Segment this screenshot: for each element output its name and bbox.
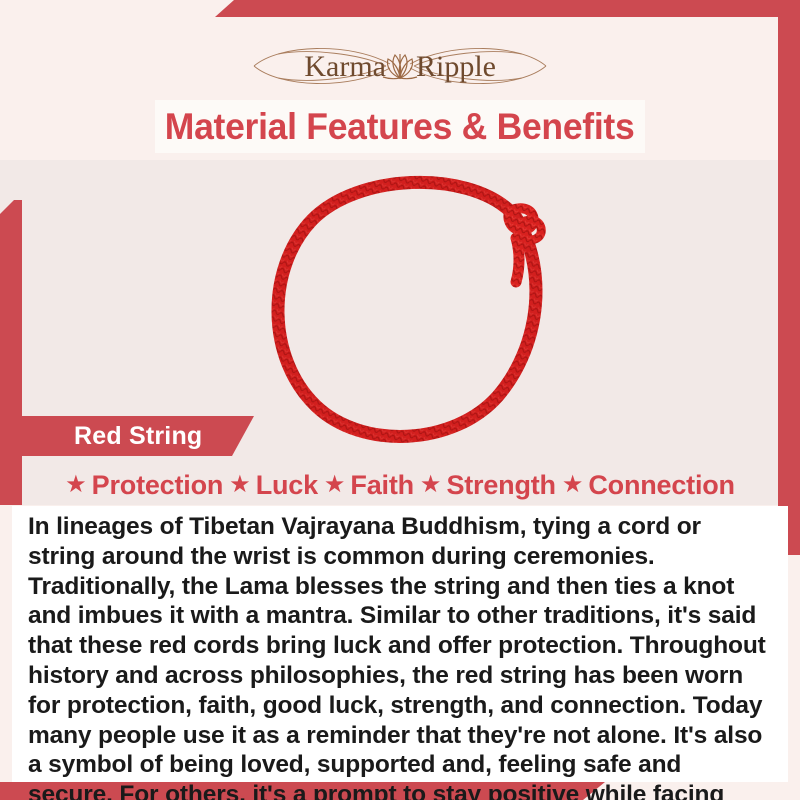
decorative-left-bar	[0, 200, 22, 505]
feature-item-connection: ★ Connection	[562, 470, 735, 501]
brand-logo-graphic: Karma Ripple	[240, 38, 560, 94]
feature-item-protection: ★ Protection	[65, 470, 223, 501]
feature-label: Luck	[256, 470, 318, 501]
star-icon: ★	[65, 473, 87, 497]
star-icon: ★	[229, 473, 251, 497]
product-name-banner: Red String	[22, 416, 254, 456]
brand-word-right: Ripple	[416, 50, 496, 83]
feature-label: Protection	[92, 470, 224, 501]
feature-label: Strength	[446, 470, 555, 501]
feature-item-faith: ★ Faith	[324, 470, 414, 501]
infographic-page: Karma Ripple Material Features & Benefit…	[0, 0, 800, 800]
feature-item-luck: ★ Luck	[229, 470, 318, 501]
star-icon: ★	[324, 473, 346, 497]
feature-label: Connection	[588, 470, 735, 501]
star-icon: ★	[420, 473, 442, 497]
description-panel: In lineages of Tibetan Vajrayana Buddhis…	[12, 506, 788, 782]
features-list: ★ Protection ★ Luck ★ Faith ★ Strength ★…	[0, 466, 800, 504]
decorative-top-bar	[215, 0, 800, 17]
page-title: Material Features & Benefits	[165, 106, 635, 148]
feature-item-strength: ★ Strength	[420, 470, 556, 501]
star-icon: ★	[562, 473, 584, 497]
brand-logo: Karma Ripple	[0, 38, 800, 94]
description-paragraph: In lineages of Tibetan Vajrayana Buddhis…	[28, 512, 772, 800]
page-title-band: Material Features & Benefits	[155, 100, 645, 153]
brand-word-left: Karma	[304, 50, 386, 83]
product-image-bracelet	[258, 168, 568, 453]
product-name-label: Red String	[74, 422, 202, 451]
feature-label: Faith	[350, 470, 414, 501]
bracelet-graphic	[258, 168, 568, 453]
